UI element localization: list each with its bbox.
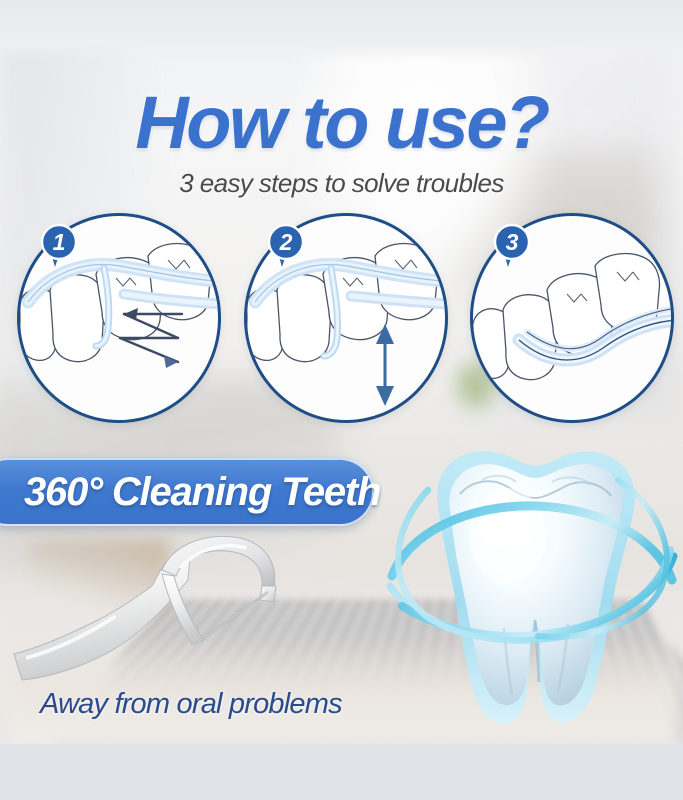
- step-badge-2-number: 2: [279, 229, 293, 255]
- infographic-canvas: How to use? 3 easy steps to solve troubl…: [0, 0, 683, 800]
- step-circle-2[interactable]: 2: [244, 213, 448, 423]
- cleaning-banner[interactable]: 360° Cleaning Teeth: [0, 458, 374, 526]
- cleaning-banner-text: 360° Cleaning Teeth: [24, 470, 380, 515]
- page-subtitle: 3 easy steps to solve troubles: [0, 168, 683, 199]
- step-badge-3-number: 3: [506, 229, 519, 255]
- steps-row: 1: [0, 213, 683, 425]
- tagline: Away from oral problems: [40, 688, 440, 721]
- page-title: How to use?: [0, 86, 683, 160]
- step-badge-1-number: 1: [53, 229, 66, 255]
- bottom-band: [0, 744, 683, 800]
- vertical-double-arrow-icon: [376, 324, 394, 406]
- background-top-haze: [0, 0, 683, 62]
- step-circle-3[interactable]: 3: [470, 213, 674, 423]
- step-badge-2: 2: [264, 222, 304, 262]
- step-badge-1: 1: [37, 222, 77, 262]
- zigzag-arrow-head-bottom: [164, 356, 178, 368]
- step-badge-3: 3: [490, 222, 530, 262]
- floss-pick-product-image: [12, 530, 332, 710]
- step-circle-1[interactable]: 1: [17, 213, 221, 423]
